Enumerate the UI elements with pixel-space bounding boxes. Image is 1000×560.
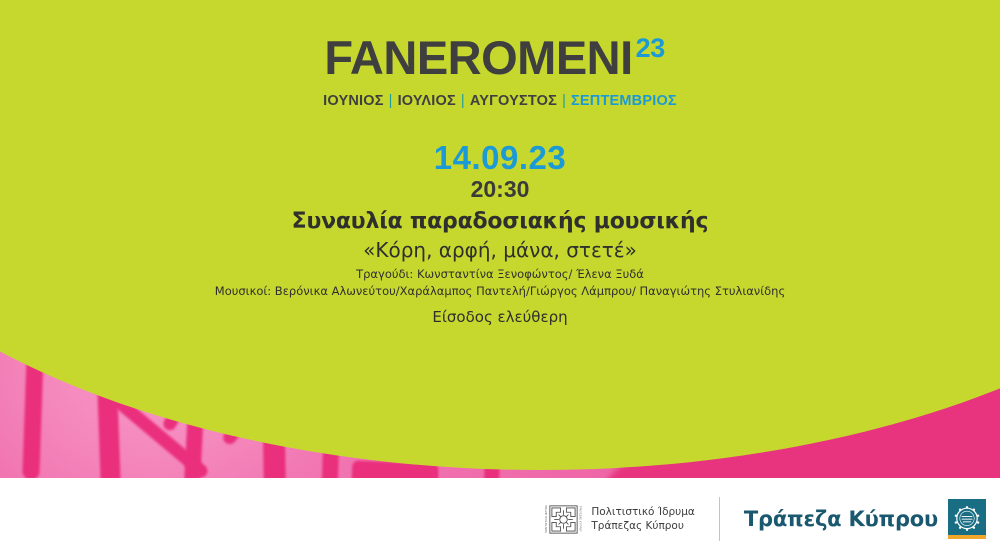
cultural-foundation-name-line2: Τράπεζας Κύπρου [591, 519, 695, 533]
bank-of-cyprus-logo: Τράπεζα Κύπρου [744, 499, 986, 539]
cultural-foundation-name: Πολιτιστικό Ίδρυμα Τράπεζας Κύπρου [591, 505, 695, 533]
logo-wordmark: FANEROMENI [324, 34, 632, 81]
bank-of-cyprus-mark-icon [948, 499, 986, 539]
admission-note: Είσοδος ελεύθερη [0, 308, 1000, 326]
event-credits: Τραγούδι: Κωνσταντίνα Ξενοφώντος/ Έλενα … [0, 266, 1000, 299]
cultural-foundation-emblem-icon [549, 505, 578, 534]
cultural-foundation-micro-right: ΤΡΑΠΕΖΑΣ ΚΥΠΡΟΥ [578, 506, 580, 532]
footer-bar: ΠΟΛΙΤΙΣΤΙΚΟ ΙΔΡΥΜΑ [0, 478, 1000, 560]
month-item-avgoustos: ΑΥΓΟΥΣΤΟΣ [470, 93, 557, 109]
cultural-foundation-mark-icon: ΠΟΛΙΤΙΣΤΙΚΟ ΙΔΡΥΜΑ [544, 500, 582, 538]
credit-vocals: Τραγούδι: Κωνσταντίνα Ξενοφώντος/ Έλενα … [0, 266, 1000, 283]
credit-musicians: Μουσικοί: Βερόνικα Αλωνεύτου/Χαράλαμπος … [0, 283, 1000, 300]
logo-year-number: 23 [636, 35, 676, 62]
month-separator: | [562, 93, 566, 109]
event-date: 14.09.23 [0, 139, 1000, 177]
month-item-ioulios: ΙΟΥΛΙΟΣ [398, 93, 456, 109]
month-separator: | [461, 93, 465, 109]
footer-divider [719, 497, 720, 541]
cultural-foundation-name-line1: Πολιτιστικό Ίδρυμα [591, 505, 695, 519]
faneromeni-logo: FANEROMENI 23 [0, 34, 1000, 81]
event-time: 20:30 [0, 176, 1000, 203]
bank-of-cyprus-name: Τράπεζα Κύπρου [744, 507, 938, 531]
month-separator: | [389, 93, 393, 109]
months-strip: ΙΟΥΝΙΟΣ|ΙΟΥΛΙΟΣ|ΑΥΓΟΥΣΤΟΣ|ΣΕΠΤΕΜΒΡΙΟΣ [0, 93, 1000, 109]
event-subtitle: «Κόρη, αρφή, μάνα, στετέ» [0, 238, 1000, 262]
poster-content: FANEROMENI 23 ΙΟΥΝΙΟΣ|ΙΟΥΛΙΟΣ|ΑΥΓΟΥΣΤΟΣ|… [0, 0, 1000, 560]
logo-year-block: 23 [636, 35, 676, 65]
cultural-foundation-logo: ΠΟΛΙΤΙΣΤΙΚΟ ΙΔΡΥΜΑ [544, 500, 695, 538]
bank-of-cyprus-emblem-icon [952, 504, 982, 534]
month-item-iounios: ΙΟΥΝΙΟΣ [323, 93, 383, 109]
month-item-septemvrios: ΣΕΠΤΕΜΒΡΙΟΣ [571, 93, 677, 109]
event-title: Συναυλία παραδοσιακής μουσικής [0, 209, 1000, 234]
sponsor-logos: ΠΟΛΙΤΙΣΤΙΚΟ ΙΔΡΥΜΑ [544, 497, 986, 541]
event-poster: FANEROMENI 23 ΙΟΥΝΙΟΣ|ΙΟΥΛΙΟΣ|ΑΥΓΟΥΣΤΟΣ|… [0, 0, 1000, 560]
